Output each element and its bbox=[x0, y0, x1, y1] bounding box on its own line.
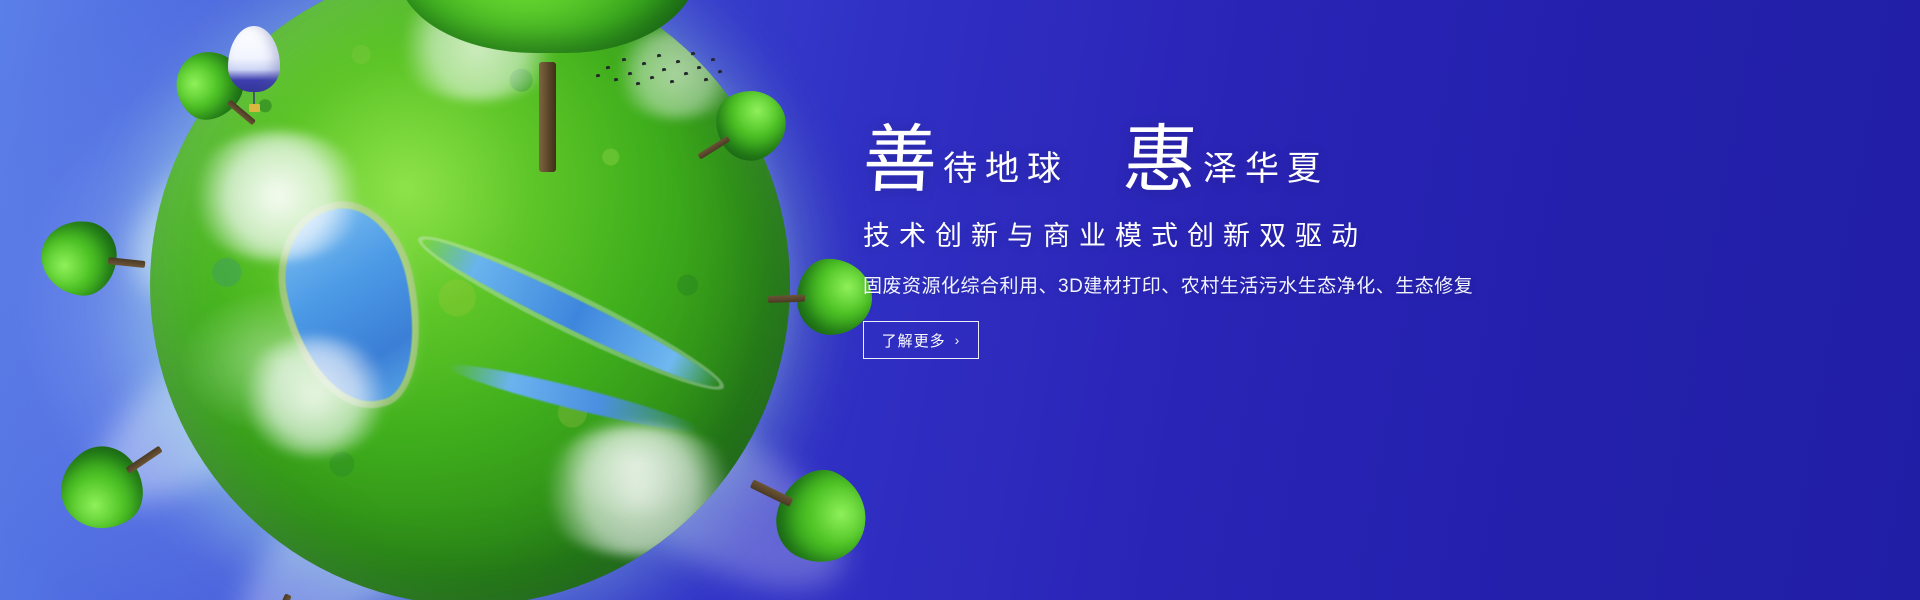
tree-icon bbox=[38, 217, 149, 301]
cloud-icon bbox=[188, 131, 368, 261]
headline-plain-text-1: 待地球 bbox=[943, 152, 1069, 194]
page-title: 善 待地球 惠 泽华夏 bbox=[863, 126, 1563, 194]
page-description: 固废资源化综合利用、3D建材打印、农村生活污水生态净化、生态修复 bbox=[863, 271, 1563, 298]
tree-icon bbox=[767, 257, 874, 337]
page-subtitle: 技术创新与商业模式创新双驱动 bbox=[863, 214, 1563, 253]
learn-more-button[interactable]: 了解更多 › bbox=[863, 321, 979, 359]
hero-banner: 善 待地球 惠 泽华夏 技术创新与商业模式创新双驱动 固废资源化综合利用、3D建… bbox=[0, 0, 1920, 600]
hero-content: 善 待地球 惠 泽华夏 技术创新与商业模式创新双驱动 固废资源化综合利用、3D建… bbox=[863, 126, 1563, 359]
headline-plain-text-2: 泽华夏 bbox=[1203, 152, 1329, 194]
headline-brush-char-2: 惠 bbox=[1121, 126, 1205, 194]
learn-more-label: 了解更多 bbox=[882, 330, 946, 351]
birds-icon bbox=[594, 48, 724, 92]
headline-brush-char-1: 善 bbox=[861, 126, 945, 194]
hot-air-balloon-icon bbox=[228, 26, 280, 118]
cloud-icon bbox=[534, 426, 744, 556]
cloud-icon bbox=[240, 336, 390, 456]
chevron-right-icon: › bbox=[955, 333, 961, 347]
